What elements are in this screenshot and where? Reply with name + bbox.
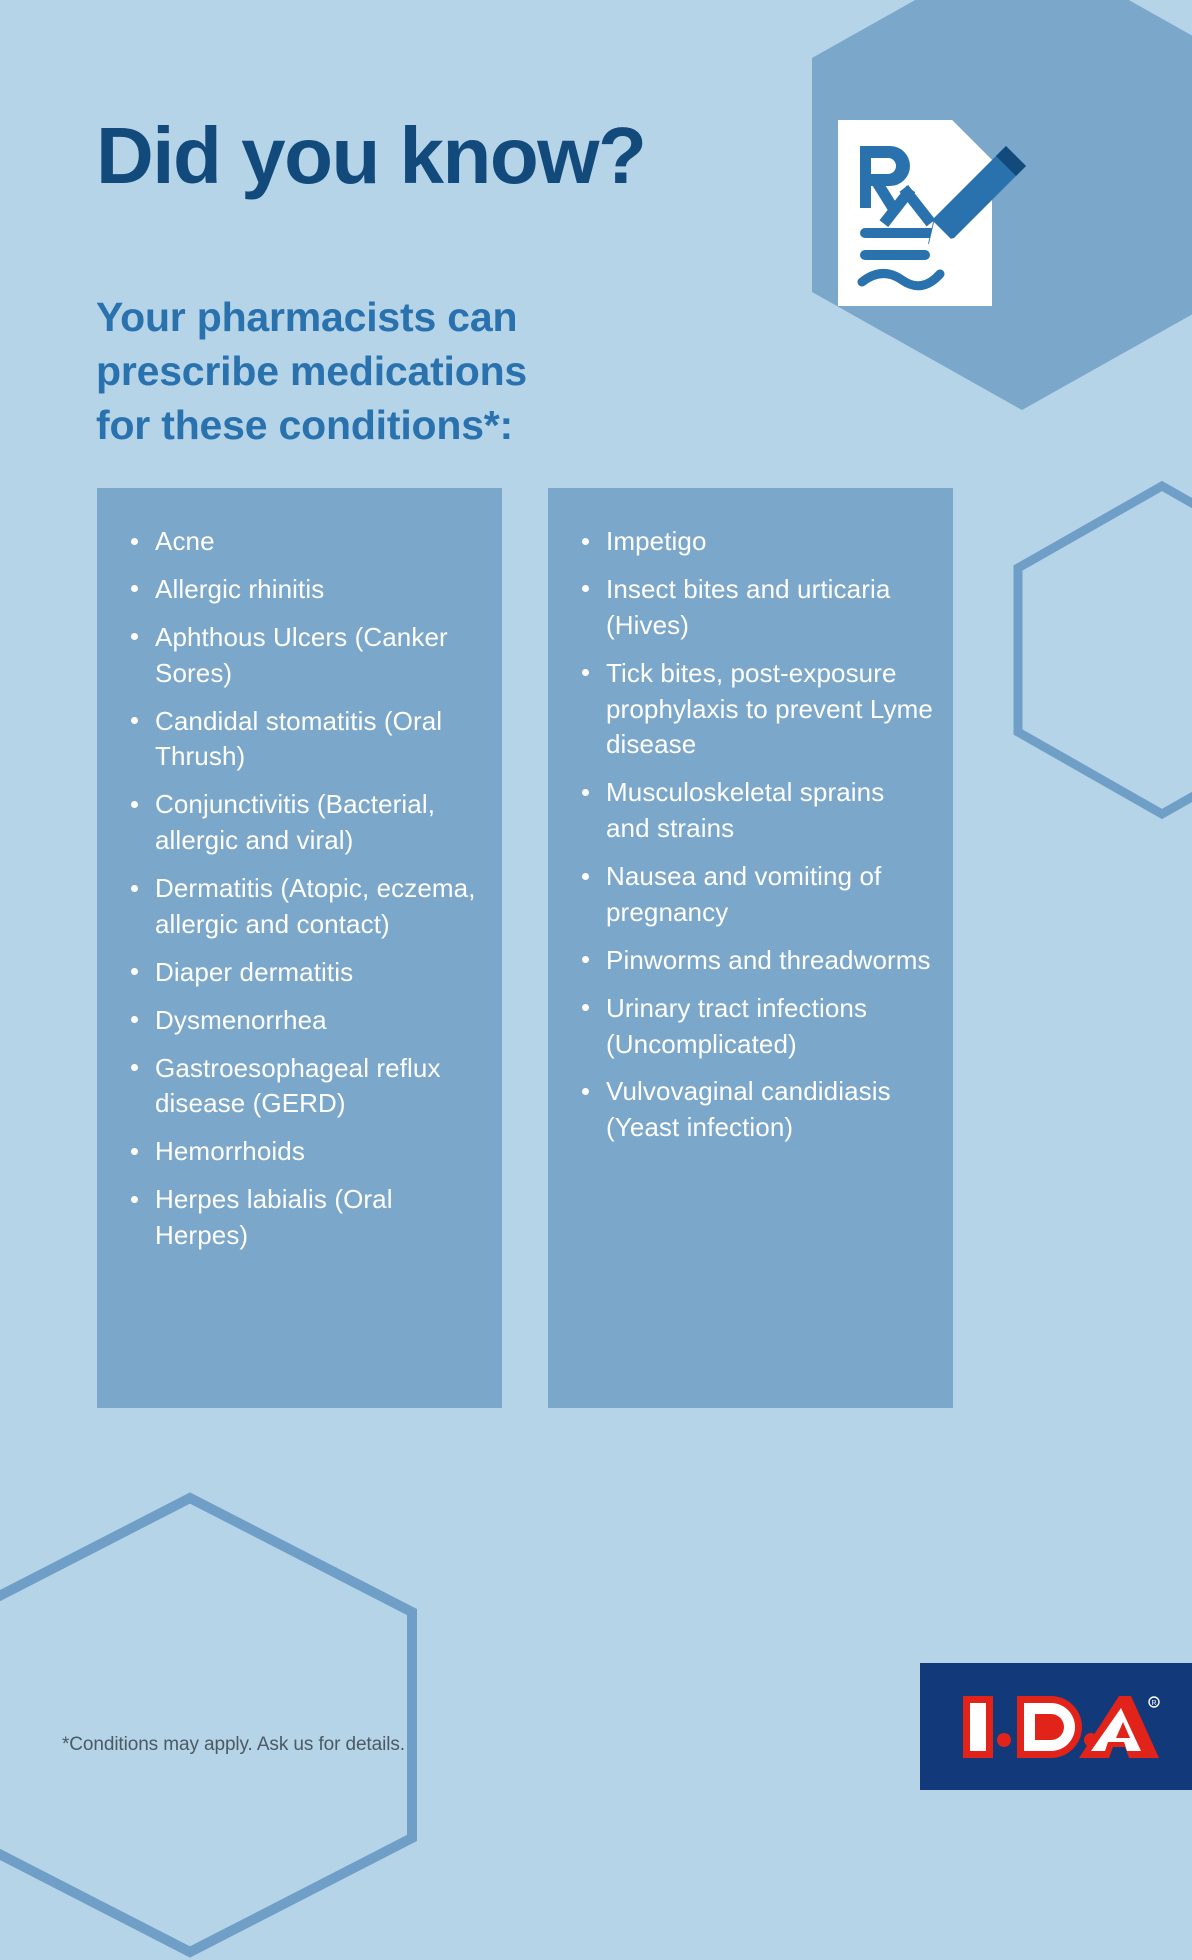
ida-logo: R xyxy=(920,1663,1192,1790)
condition-list-item: Dermatitis (Atopic, eczema, allergic and… xyxy=(127,871,484,943)
condition-label: Dysmenorrhea xyxy=(155,1005,327,1035)
condition-list-item: Acne xyxy=(127,524,484,560)
condition-label: Pinworms and threadworms xyxy=(606,945,931,975)
condition-list-item: Diaper dermatitis xyxy=(127,955,484,991)
condition-list-item: Nausea and vomiting of pregnancy xyxy=(578,859,935,931)
conditions-list-right: ImpetigoInsect bites and urticaria (Hive… xyxy=(548,488,953,1146)
condition-list-item: Gastroesophageal reflux disease (GERD) xyxy=(127,1051,484,1123)
condition-label: Hemorrhoids xyxy=(155,1136,305,1166)
conditions-list-left: AcneAllergic rhinitisAphthous Ulcers (Ca… xyxy=(97,488,502,1254)
subtitle-line-1: Your pharmacists can xyxy=(96,290,527,344)
bullet-icon xyxy=(131,1196,138,1203)
condition-label: Vulvovaginal candidiasis (Yeast infectio… xyxy=(606,1076,891,1142)
bullet-icon xyxy=(582,789,589,796)
condition-label: Aphthous Ulcers (Canker Sores) xyxy=(155,622,448,688)
condition-label: Diaper dermatitis xyxy=(155,957,353,987)
condition-label: Candidal stomatitis (Oral Thrush) xyxy=(155,706,442,772)
subtitle-line-3: for these conditions*: xyxy=(96,398,527,452)
condition-label: Gastroesophageal reflux disease (GERD) xyxy=(155,1053,441,1119)
condition-label: Conjunctivitis (Bacterial, allergic and … xyxy=(155,789,435,855)
bullet-icon xyxy=(131,968,138,975)
condition-list-item: Vulvovaginal candidiasis (Yeast infectio… xyxy=(578,1074,935,1146)
bullet-icon xyxy=(582,873,589,880)
bullet-icon xyxy=(582,956,589,963)
condition-label: Tick bites, post-exposure prophylaxis to… xyxy=(606,658,933,760)
condition-label: Herpes labialis (Oral Herpes) xyxy=(155,1184,393,1250)
condition-list-item: Urinary tract infections (Uncomplicated) xyxy=(578,991,935,1063)
condition-label: Insect bites and urticaria (Hives) xyxy=(606,574,890,640)
condition-list-item: Hemorrhoids xyxy=(127,1134,484,1170)
condition-list-item: Insect bites and urticaria (Hives) xyxy=(578,572,935,644)
condition-list-item: Dysmenorrhea xyxy=(127,1003,484,1039)
ida-logo-mark: R xyxy=(951,1688,1161,1766)
condition-label: Nausea and vomiting of pregnancy xyxy=(606,861,881,927)
condition-list-item: Conjunctivitis (Bacterial, allergic and … xyxy=(127,787,484,859)
condition-list-item: Pinworms and threadworms xyxy=(578,943,935,979)
bullet-icon xyxy=(582,1088,589,1095)
bullet-icon xyxy=(582,669,589,676)
condition-label: Urinary tract infections (Uncomplicated) xyxy=(606,993,867,1059)
condition-list-item: Herpes labialis (Oral Herpes) xyxy=(127,1182,484,1254)
bullet-icon xyxy=(131,801,138,808)
footnote-text: *Conditions may apply. Ask us for detail… xyxy=(62,1734,405,1756)
page-subtitle: Your pharmacists can prescribe medicatio… xyxy=(96,290,527,452)
condition-list-item: Tick bites, post-exposure prophylaxis to… xyxy=(578,656,935,764)
condition-label: Allergic rhinitis xyxy=(155,574,324,604)
subtitle-line-2: prescribe medications xyxy=(96,344,527,398)
condition-label: Dermatitis (Atopic, eczema, allergic and… xyxy=(155,873,476,939)
bullet-icon xyxy=(582,538,589,545)
hexagon-outline-icon xyxy=(1012,480,1192,820)
conditions-panel-right: ImpetigoInsect bites and urticaria (Hive… xyxy=(548,488,953,1408)
bullet-icon xyxy=(131,1064,138,1071)
page-title: Did you know? xyxy=(96,116,645,196)
conditions-panel-left: AcneAllergic rhinitisAphthous Ulcers (Ca… xyxy=(97,488,502,1408)
bullet-icon xyxy=(131,538,138,545)
hexagon-outline-icon xyxy=(0,1490,420,1960)
condition-label: Musculoskeletal sprains and strains xyxy=(606,777,884,843)
bullet-icon xyxy=(131,1148,138,1155)
bullet-icon xyxy=(131,633,138,640)
bullet-icon xyxy=(131,585,138,592)
condition-list-item: Allergic rhinitis xyxy=(127,572,484,608)
condition-list-item: Aphthous Ulcers (Canker Sores) xyxy=(127,620,484,692)
bullet-icon xyxy=(582,585,589,592)
bullet-icon xyxy=(131,885,138,892)
bullet-icon xyxy=(582,1004,589,1011)
svg-text:R: R xyxy=(1151,1700,1156,1707)
bullet-icon xyxy=(131,1016,138,1023)
condition-list-item: Musculoskeletal sprains and strains xyxy=(578,775,935,847)
bullet-icon xyxy=(131,717,138,724)
condition-list-item: Candidal stomatitis (Oral Thrush) xyxy=(127,704,484,776)
rx-prescription-icon xyxy=(820,110,1030,325)
condition-label: Impetigo xyxy=(606,526,707,556)
condition-label: Acne xyxy=(155,526,215,556)
condition-list-item: Impetigo xyxy=(578,524,935,560)
